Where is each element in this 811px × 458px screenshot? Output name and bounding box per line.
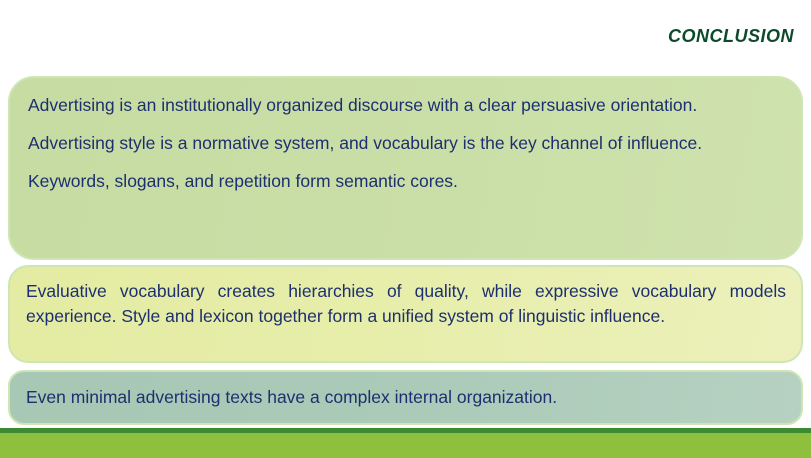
bullet-text: Evaluative vocabulary creates hierarchie…	[26, 279, 786, 329]
content-box-body: Evaluative vocabulary creates hierarchie…	[10, 267, 801, 341]
bullet-text: Even minimal advertising texts have a co…	[26, 385, 786, 410]
content-box-body: Even minimal advertising texts have a co…	[10, 385, 801, 410]
content-box-conclusions-primary: Advertising is an institutionally organi…	[8, 76, 803, 260]
footer-accent-bar	[0, 433, 811, 458]
content-box-conclusions-secondary: Evaluative vocabulary creates hierarchie…	[8, 265, 803, 363]
page-title: CONCLUSION	[668, 26, 794, 47]
content-box-conclusions-closing: Even minimal advertising texts have a co…	[8, 370, 803, 425]
content-box-body: Advertising is an institutionally organi…	[10, 78, 801, 221]
bullet-text: Advertising is an institutionally organi…	[28, 93, 785, 118]
bullet-text: Advertising style is a normative system,…	[28, 131, 785, 156]
bullet-text: Keywords, slogans, and repetition form s…	[28, 169, 785, 194]
slide-canvas: CONCLUSION Advertising is an institution…	[0, 0, 811, 458]
